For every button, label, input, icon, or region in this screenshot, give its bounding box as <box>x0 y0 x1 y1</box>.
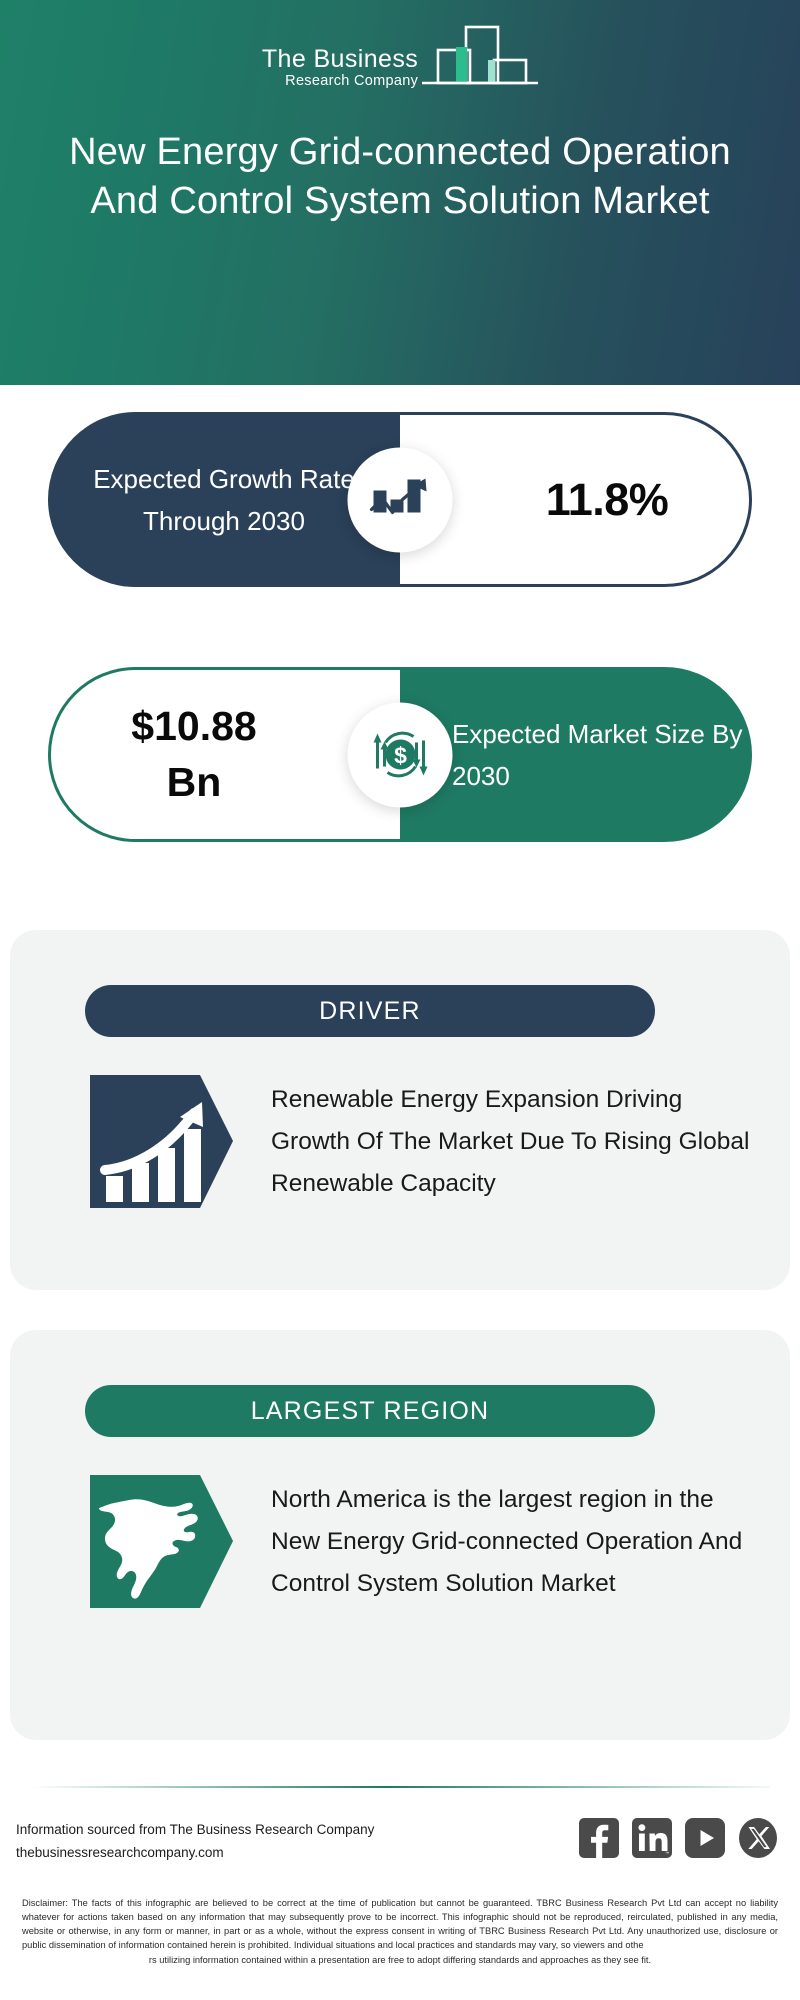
panel-largest-region: LARGEST REGION North America is the larg… <box>10 1330 790 1740</box>
logo-line-2: Research Company <box>285 73 418 90</box>
driver-heading-pill: DRIVER <box>85 985 655 1037</box>
svg-text:$: $ <box>394 743 407 769</box>
x-twitter-icon[interactable] <box>738 1818 778 1858</box>
company-logo: The Business Research Company <box>0 22 800 94</box>
largest-region-text: North America is the largest region in t… <box>271 1475 760 1613</box>
linkedin-icon[interactable]: ™ <box>632 1818 672 1858</box>
footer-divider <box>30 1786 770 1788</box>
market-size-value-line1: $10.88 <box>131 699 256 754</box>
market-size-value-line2: Bn <box>167 755 222 810</box>
driver-body: Renewable Energy Expansion Driving Growt… <box>90 1075 760 1213</box>
footer-source-info: Information sourced from The Business Re… <box>16 1818 456 1864</box>
driver-text: Renewable Energy Expansion Driving Growt… <box>271 1075 760 1213</box>
market-size-label: Expected Market Size By 2030 <box>452 712 752 796</box>
market-size-value: $10.88 Bn <box>48 667 378 842</box>
largest-region-heading-pill: LARGEST REGION <box>85 1385 655 1437</box>
logo-wordmark: The Business Research Company <box>262 46 418 94</box>
page-title: New Energy Grid-connected Operation And … <box>50 128 750 225</box>
footer-website[interactable]: thebusinessresearchcompany.com <box>16 1841 456 1864</box>
footer-source-line: Information sourced from The Business Re… <box>16 1818 456 1841</box>
growth-rate-value: 11.8% <box>400 412 752 587</box>
bar-chart-logo-icon <box>420 22 538 94</box>
social-links: ™ <box>579 1818 778 1858</box>
header-banner: The Business Research Company New Energy… <box>0 0 800 385</box>
growth-chart-arrow-icon <box>348 447 453 552</box>
facebook-icon[interactable] <box>579 1818 619 1858</box>
disclaimer-main: Disclaimer: The facts of this infographi… <box>22 1898 778 1950</box>
stat-card-market-size: $10.88 Bn Expected Market Size By 2030 $ <box>48 667 752 842</box>
svg-text:™: ™ <box>665 1851 669 1856</box>
infographic-page: The Business Research Company New Energy… <box>0 0 800 2000</box>
disclaimer-last-line: rs utilizing information contained withi… <box>22 1953 778 1967</box>
largest-region-body: North America is the largest region in t… <box>90 1475 760 1613</box>
panel-driver: DRIVER Renewable Energy Expansion Drivin… <box>10 930 790 1290</box>
disclaimer-text: Disclaimer: The facts of this infographi… <box>22 1896 778 1967</box>
dollar-circular-arrows-icon: $ <box>348 702 453 807</box>
stat-card-growth-rate: Expected Growth Rate Through 2030 11.8% <box>48 412 752 587</box>
logo-line-1: The Business <box>262 46 418 72</box>
youtube-icon[interactable] <box>685 1818 725 1858</box>
north-america-map-icon <box>90 1475 233 1613</box>
growth-rate-label: Expected Growth Rate Through 2030 <box>74 457 374 541</box>
rising-bar-chart-arrow-icon <box>90 1075 233 1213</box>
